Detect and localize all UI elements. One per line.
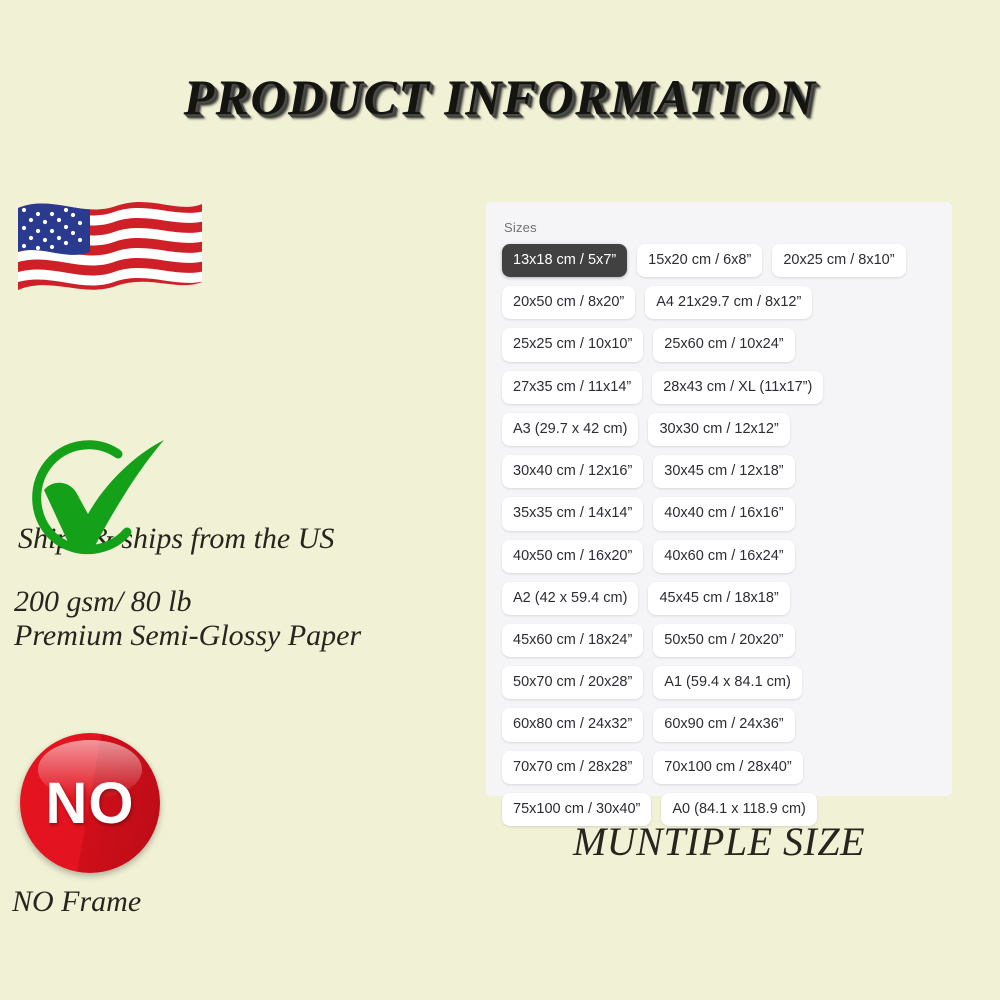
sizes-label: Sizes xyxy=(504,220,936,235)
size-option-chip[interactable]: 30x45 cm / 12x18” xyxy=(653,455,794,488)
sizes-panel: Sizes 13x18 cm / 5x7”15x20 cm / 6x8”20x2… xyxy=(486,202,952,796)
size-option-chip[interactable]: 25x25 cm / 10x10” xyxy=(502,328,643,361)
feature-caption-paper: 200 gsm/ 80 lb Premium Semi-Glossy Paper xyxy=(14,585,361,652)
size-option-chip[interactable]: 60x80 cm / 24x32” xyxy=(502,708,643,741)
size-option-chip[interactable]: 45x60 cm / 18x24” xyxy=(502,624,643,657)
page-title: PRODUCT INFORMATION xyxy=(0,68,1000,126)
us-flag-icon xyxy=(12,190,208,310)
feature-caption-no-frame: NO Frame xyxy=(12,885,141,919)
no-badge-icon: NO xyxy=(20,733,160,873)
size-option-chip[interactable]: 50x70 cm / 20x28” xyxy=(502,666,643,699)
size-option-chip[interactable]: 70x70 cm / 28x28” xyxy=(502,751,643,784)
size-option-chip[interactable]: 70x100 cm / 28x40” xyxy=(653,751,802,784)
size-option-chip[interactable]: 40x50 cm / 16x20” xyxy=(502,540,643,573)
size-option-chip[interactable]: 40x60 cm / 16x24” xyxy=(653,540,794,573)
size-option-chip[interactable]: A3 (29.7 x 42 cm) xyxy=(502,413,638,446)
size-option-chip[interactable]: 45x45 cm / 18x18” xyxy=(648,582,789,615)
size-option-chip[interactable]: 50x50 cm / 20x20” xyxy=(653,624,794,657)
size-option-chip[interactable]: 30x30 cm / 12x12” xyxy=(648,413,789,446)
multiple-size-caption: MUNTIPLE SIZE xyxy=(486,818,952,865)
size-option-chip[interactable]: A4 21x29.7 cm / 8x12” xyxy=(645,286,812,319)
size-option-chip[interactable]: 60x90 cm / 24x36” xyxy=(653,708,794,741)
no-badge-text: NO xyxy=(46,770,135,837)
size-option-chip[interactable]: 20x50 cm / 8x20” xyxy=(502,286,635,319)
size-option-chip[interactable]: 30x40 cm / 12x16” xyxy=(502,455,643,488)
size-option-chip[interactable]: A1 (59.4 x 84.1 cm) xyxy=(653,666,802,699)
size-option-chip[interactable]: 28x43 cm / XL (11x17”) xyxy=(652,371,823,404)
size-option-chip[interactable]: 15x20 cm / 6x8” xyxy=(637,244,762,277)
size-option-chip[interactable]: A2 (42 x 59.4 cm) xyxy=(502,582,638,615)
size-option-chip[interactable]: 13x18 cm / 5x7” xyxy=(502,244,627,277)
size-option-chip[interactable]: 25x60 cm / 10x24” xyxy=(653,328,794,361)
size-option-chip[interactable]: 20x25 cm / 8x10” xyxy=(772,244,905,277)
size-options-grid: 13x18 cm / 5x7”15x20 cm / 6x8”20x25 cm /… xyxy=(502,244,936,826)
size-option-chip[interactable]: 40x40 cm / 16x16” xyxy=(653,497,794,530)
size-option-chip[interactable]: 35x35 cm / 14x14” xyxy=(502,497,643,530)
size-option-chip[interactable]: 27x35 cm / 11x14” xyxy=(502,371,642,404)
green-checkmark-icon xyxy=(14,428,174,568)
